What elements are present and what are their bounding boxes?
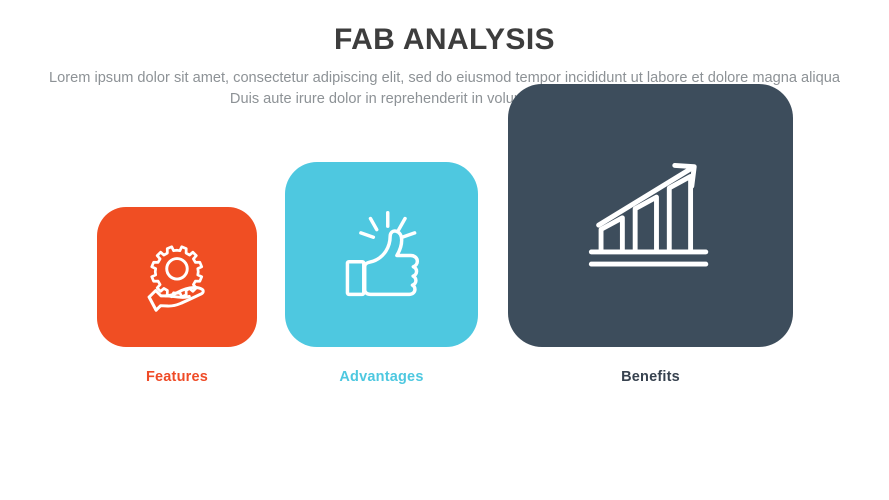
card-column-advantages: Advantages	[285, 140, 478, 430]
card-column-benefits: Benefits	[508, 140, 793, 430]
card-label-advantages: Advantages	[285, 369, 478, 385]
card-label-benefits: Benefits	[508, 369, 793, 385]
card-benefits[interactable]	[508, 84, 793, 347]
card-features[interactable]	[97, 207, 257, 347]
card-advantages[interactable]	[285, 162, 478, 347]
card-label-features: Features	[97, 369, 257, 385]
cards-row: Features	[0, 140, 889, 430]
fab-analysis-infographic: FAB ANALYSIS Lorem ipsum dolor sit amet,…	[0, 0, 889, 500]
page-title: FAB ANALYSIS	[0, 22, 889, 58]
card-column-features: Features	[97, 140, 257, 430]
thumbs-up-shine-icon	[334, 207, 430, 303]
growth-bar-chart-arrow-icon	[584, 149, 718, 283]
hand-holding-gear-icon	[136, 236, 218, 318]
